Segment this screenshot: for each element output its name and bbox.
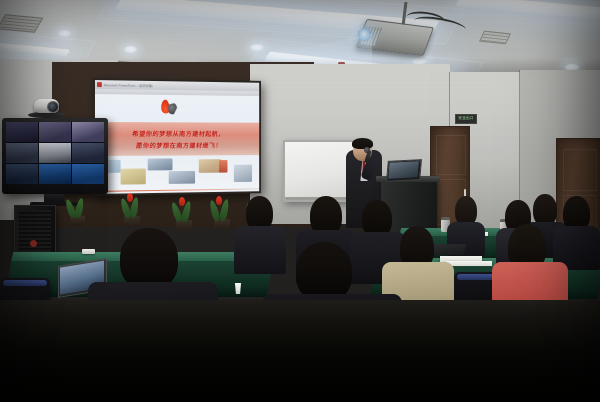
- recessed-downlight: [124, 46, 137, 53]
- powerpoint-title: Microsoft PowerPoint - [演示文稿]: [104, 83, 153, 88]
- slide-banner-line-2: 愿你的梦想在南方建材继飞！: [135, 140, 222, 150]
- slide-canvas: 希望你的梦想从南方建材起航， 愿你的梦想在南方建材继飞！: [95, 94, 259, 194]
- interior-photo: [219, 160, 227, 173]
- exit-sign: 安全出口: [455, 114, 477, 124]
- fluorescent-tube-light: [455, 0, 600, 21]
- red-flame-company-logo: [159, 100, 178, 118]
- attendee-dark-suit-2-torso: [234, 226, 286, 274]
- plant-flower: [179, 197, 185, 206]
- product-photo-2: [121, 169, 146, 185]
- camera-lens-icon: [47, 101, 59, 113]
- plant-flower: [216, 196, 222, 205]
- remote-site-3[interactable]: [72, 122, 104, 142]
- remote-site-5[interactable]: [39, 143, 71, 163]
- slide-banner: 希望你的梦想从南方建材起航， 愿你的梦想在南方建材继飞！: [95, 122, 259, 156]
- chair-trim: [3, 280, 47, 286]
- exit-sign-label: 安全出口: [458, 117, 473, 121]
- ceiling-air-vent: [0, 14, 43, 32]
- remote-site-4[interactable]: [6, 143, 38, 163]
- document-stack: [446, 261, 492, 266]
- remote-site-1[interactable]: [6, 122, 38, 142]
- material-photo: [199, 159, 221, 173]
- video-conference-monitor[interactable]: [2, 118, 108, 194]
- car-photo-1: [148, 158, 173, 170]
- laptop-screen: [388, 161, 419, 178]
- speaker-grill: [19, 210, 51, 254]
- powerpoint-icon: [97, 82, 102, 87]
- remote-site-8[interactable]: [39, 164, 71, 184]
- recessed-downlight: [58, 30, 71, 37]
- door-panel: [436, 135, 466, 175]
- remote-site-6[interactable]: [72, 143, 104, 163]
- swirl-icon: [168, 103, 177, 115]
- remote-site-2[interactable]: [39, 122, 71, 142]
- remote-site-9[interactable]: [72, 164, 104, 184]
- slide-thumbnail-strip: [95, 157, 259, 190]
- projection-screen: Microsoft PowerPoint - [演示文稿] 希望你的梦想从南方建…: [93, 78, 261, 196]
- door-panel: [563, 149, 597, 191]
- speaker-badge-icon: [30, 240, 37, 247]
- presenter-hair: [352, 138, 373, 149]
- remote-control[interactable]: [82, 249, 95, 254]
- car-photo-2: [169, 171, 195, 184]
- person-photo: [234, 165, 252, 182]
- camera-led-icon: [37, 103, 40, 106]
- recessed-downlight: [250, 44, 264, 51]
- ceiling-air-vent: [479, 31, 511, 45]
- microphone-head-icon: [364, 147, 370, 153]
- presentation-laptop[interactable]: [386, 159, 422, 182]
- attendee-dark-suit-6-head: [296, 242, 352, 302]
- audio-speaker-cabinet: [14, 205, 56, 259]
- plant-flower: [127, 193, 133, 202]
- floor: [0, 300, 600, 402]
- slide-banner-line-1: 希望你的梦想从南方建材起航，: [132, 128, 225, 138]
- conference-room-photo: 安全出口 Microsoft PowerPoint - [演示文稿] 希望你的梦…: [0, 0, 600, 402]
- thermos-lid: [441, 217, 450, 220]
- video-conference-grid: [6, 122, 104, 184]
- powerpoint-slide: Microsoft PowerPoint - [演示文稿] 希望你的梦想从南方建…: [95, 80, 259, 194]
- attendee-dark-suit-1-head: [120, 228, 178, 290]
- remote-site-7[interactable]: [6, 164, 38, 184]
